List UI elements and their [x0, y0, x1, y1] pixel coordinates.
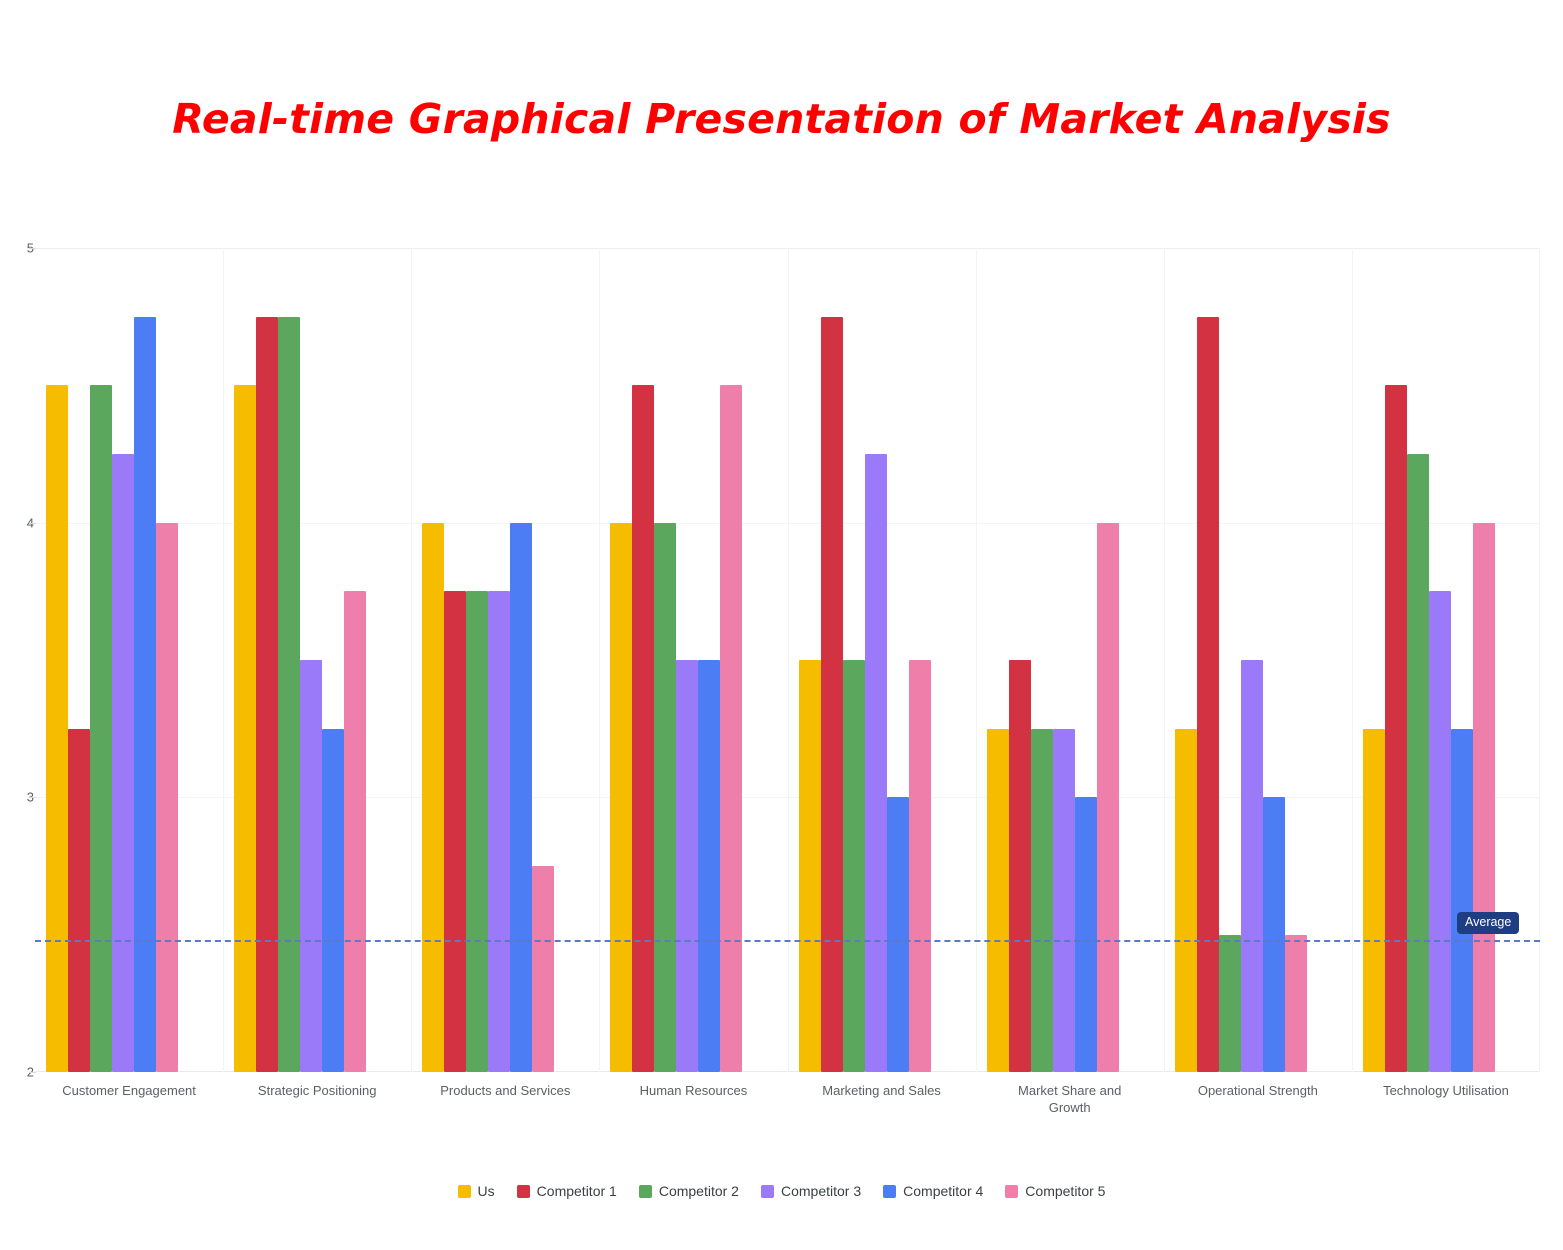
- bar[interactable]: [1219, 935, 1241, 1072]
- legend-label: Competitor 3: [781, 1183, 861, 1199]
- bar[interactable]: [466, 591, 488, 1072]
- bar[interactable]: [1053, 729, 1075, 1072]
- bar[interactable]: [698, 660, 720, 1072]
- bar[interactable]: [843, 660, 865, 1072]
- legend-label: Competitor 2: [659, 1183, 739, 1199]
- bar[interactable]: [987, 729, 1009, 1072]
- legend-item-competitor-4[interactable]: Competitor 4: [883, 1183, 983, 1199]
- bar[interactable]: [887, 797, 909, 1072]
- average-badge: Average: [1457, 912, 1519, 934]
- bar[interactable]: [1009, 660, 1031, 1072]
- bar[interactable]: [821, 317, 843, 1072]
- bar[interactable]: [422, 523, 444, 1072]
- legend-swatch-icon: [458, 1185, 471, 1198]
- bar[interactable]: [1407, 454, 1429, 1072]
- bar[interactable]: [654, 523, 676, 1072]
- bar-group: [599, 248, 787, 1072]
- x-axis-label: Human Resources: [599, 1082, 787, 1099]
- bar[interactable]: [488, 591, 510, 1072]
- bar[interactable]: [1285, 935, 1307, 1072]
- bar[interactable]: [112, 454, 134, 1072]
- bar[interactable]: [1263, 797, 1285, 1072]
- bar[interactable]: [68, 729, 90, 1072]
- bar[interactable]: [444, 591, 466, 1072]
- bar[interactable]: [1451, 729, 1473, 1072]
- bar[interactable]: [1097, 523, 1119, 1072]
- legend-swatch-icon: [517, 1185, 530, 1198]
- bar[interactable]: [300, 660, 322, 1072]
- bar[interactable]: [676, 660, 698, 1072]
- legend-swatch-icon: [761, 1185, 774, 1198]
- bar[interactable]: [799, 660, 821, 1072]
- bar[interactable]: [1031, 729, 1053, 1072]
- x-axis-label: Strategic Positioning: [223, 1082, 411, 1099]
- bar-group: [35, 248, 223, 1072]
- bar[interactable]: [1175, 729, 1197, 1072]
- bar[interactable]: [632, 385, 654, 1072]
- bar-group: [1164, 248, 1352, 1072]
- bar[interactable]: [1363, 729, 1385, 1072]
- bar-group: [976, 248, 1164, 1072]
- bar[interactable]: [156, 523, 178, 1072]
- legend-label: Competitor 4: [903, 1183, 983, 1199]
- average-line: [35, 940, 1540, 942]
- x-axis-label: Customer Engagement: [35, 1082, 223, 1099]
- legend-swatch-icon: [639, 1185, 652, 1198]
- bar[interactable]: [134, 317, 156, 1072]
- y-axis-tick-mark: [29, 1072, 36, 1073]
- bar[interactable]: [1197, 317, 1219, 1072]
- y-axis-tick-mark: [29, 797, 36, 798]
- bar[interactable]: [256, 317, 278, 1072]
- bar[interactable]: [1385, 385, 1407, 1072]
- bar[interactable]: [532, 866, 554, 1072]
- chart-title: Real-time Graphical Presentation of Mark…: [0, 95, 1563, 143]
- y-axis-tick-mark: [29, 248, 36, 249]
- x-axis-label: Market Share and Growth: [1006, 1082, 1134, 1116]
- legend-swatch-icon: [1005, 1185, 1018, 1198]
- bar[interactable]: [610, 523, 632, 1072]
- bar[interactable]: [1473, 523, 1495, 1072]
- bar-group: [788, 248, 976, 1072]
- market-analysis-chart: Real-time Graphical Presentation of Mark…: [0, 0, 1563, 1250]
- bar[interactable]: [1075, 797, 1097, 1072]
- legend-item-competitor-2[interactable]: Competitor 2: [639, 1183, 739, 1199]
- bar[interactable]: [720, 385, 742, 1072]
- bar[interactable]: [46, 385, 68, 1072]
- legend-label: Competitor 5: [1025, 1183, 1105, 1199]
- x-axis-label: Technology Utilisation: [1352, 1082, 1540, 1099]
- legend-label: Us: [478, 1183, 495, 1199]
- bar[interactable]: [234, 385, 256, 1072]
- x-axis-label: Marketing and Sales: [788, 1082, 976, 1099]
- legend-item-competitor-1[interactable]: Competitor 1: [517, 1183, 617, 1199]
- bar[interactable]: [510, 523, 532, 1072]
- legend-item-competitor-3[interactable]: Competitor 3: [761, 1183, 861, 1199]
- bar[interactable]: [90, 385, 112, 1072]
- x-axis-labels: Customer EngagementStrategic Positioning…: [35, 1082, 1540, 1142]
- bar[interactable]: [322, 729, 344, 1072]
- y-axis-tick-mark: [29, 523, 36, 524]
- bar[interactable]: [1429, 591, 1451, 1072]
- legend-item-competitor-5[interactable]: Competitor 5: [1005, 1183, 1105, 1199]
- bar[interactable]: [865, 454, 887, 1072]
- x-axis-label: Operational Strength: [1164, 1082, 1352, 1099]
- legend-label: Competitor 1: [537, 1183, 617, 1199]
- bar-group: [223, 248, 411, 1072]
- plot-area: Average: [35, 248, 1540, 1072]
- legend-swatch-icon: [883, 1185, 896, 1198]
- bar-group: [411, 248, 599, 1072]
- chart-legend[interactable]: UsCompetitor 1Competitor 2Competitor 3Co…: [0, 1183, 1563, 1199]
- bar-group: [1352, 248, 1540, 1072]
- bar[interactable]: [1241, 660, 1263, 1072]
- x-axis-label: Products and Services: [411, 1082, 599, 1099]
- legend-item-us[interactable]: Us: [458, 1183, 495, 1199]
- bar[interactable]: [344, 591, 366, 1072]
- bar[interactable]: [278, 317, 300, 1072]
- bar[interactable]: [909, 660, 931, 1072]
